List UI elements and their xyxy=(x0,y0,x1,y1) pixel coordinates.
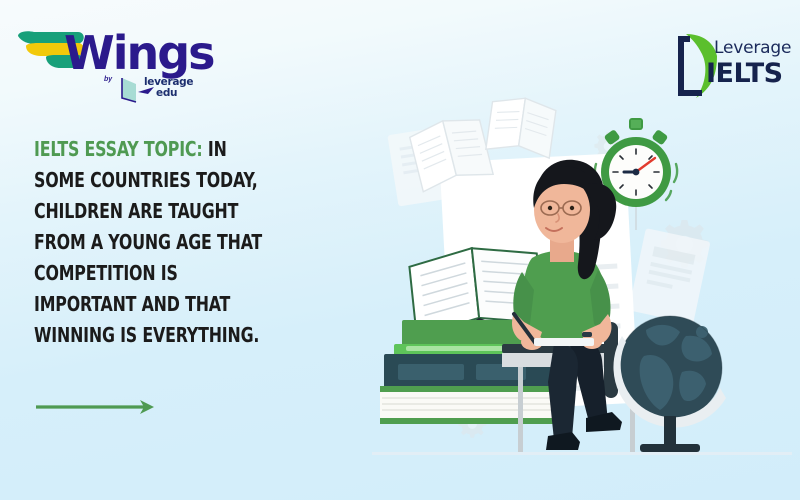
leverage-edu-line2: edu xyxy=(156,88,193,99)
wings-by-label: by xyxy=(104,76,112,83)
floating-book-second-icon xyxy=(486,94,557,158)
headline-body: IN SOME COUNTRIES TODAY, CHILDREN ARE TA… xyxy=(34,137,262,347)
leverage-edu-text: leverage edu xyxy=(144,77,193,99)
poster-canvas: Wings by leverage edu Leverage IELTS IEL… xyxy=(0,0,800,500)
desk-paper xyxy=(534,338,594,346)
arrow-right-icon[interactable] xyxy=(34,398,162,416)
ielts-logo-line1: Leverage xyxy=(714,38,791,58)
page-title: IELTS ESSAY TOPIC: IN SOME COUNTRIES TOD… xyxy=(34,134,270,351)
wings-wordmark: Wings xyxy=(64,30,214,76)
ielts-logo-line2: IELTS xyxy=(706,58,783,89)
wings-logo[interactable]: Wings by leverage edu xyxy=(16,18,196,102)
floor-line xyxy=(372,452,792,455)
headline-lead: IELTS ESSAY TOPIC: xyxy=(34,137,203,161)
study-illustration xyxy=(372,92,792,500)
study-illustration-svg xyxy=(372,92,792,500)
